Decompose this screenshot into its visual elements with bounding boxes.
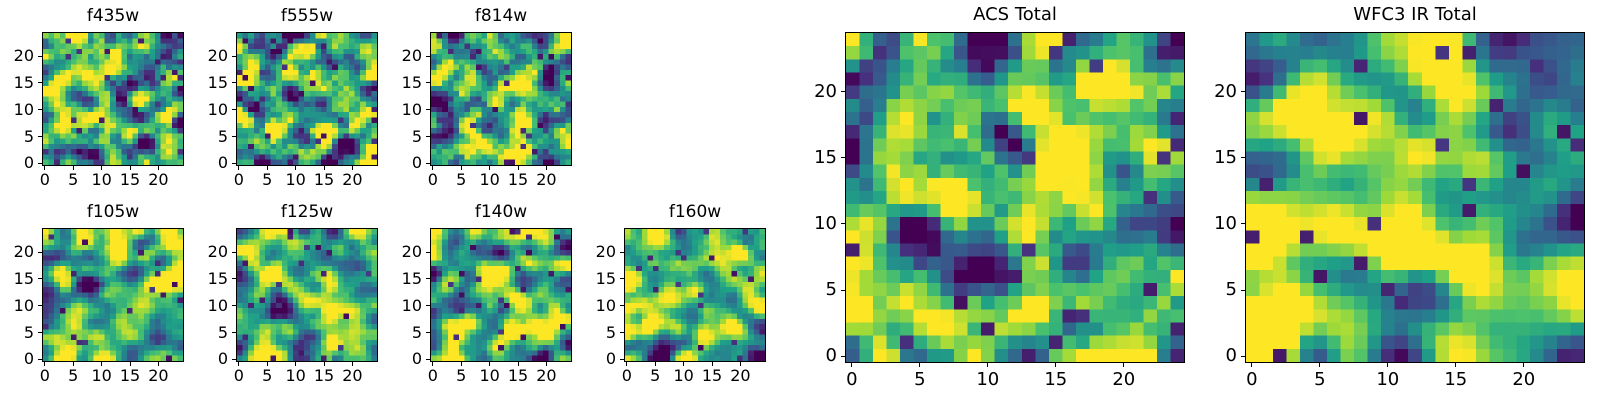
ytick-label: 20	[785, 83, 837, 101]
xtick-mark	[740, 362, 741, 366]
panel-title-f125w: f125w	[236, 204, 378, 221]
ytick-label: 15	[370, 75, 422, 91]
ytick-label: 10	[370, 102, 422, 118]
xtick-label: 10	[1363, 371, 1413, 389]
heatmap-image-f555w	[237, 33, 377, 165]
xtick-mark	[489, 362, 490, 366]
ytick-label: 15	[176, 271, 228, 287]
ytick-label: 20	[176, 244, 228, 260]
ytick-mark	[426, 56, 430, 57]
heatmap-axes-f814w	[430, 32, 572, 166]
xtick-mark	[324, 166, 325, 170]
xtick-mark	[987, 363, 988, 367]
xtick-label: 15	[1431, 371, 1481, 389]
xtick-mark	[655, 362, 656, 366]
xtick-mark	[683, 362, 684, 366]
xtick-mark	[44, 362, 45, 366]
ytick-label: 10	[370, 298, 422, 314]
ytick-mark	[232, 278, 236, 279]
panel-title-f140w: f140w	[430, 204, 572, 221]
ytick-label: 5	[785, 281, 837, 299]
xtick-mark	[1055, 363, 1056, 367]
ytick-label: 15	[785, 149, 837, 167]
xtick-mark	[324, 362, 325, 366]
ytick-mark	[620, 252, 624, 253]
xtick-mark	[1123, 363, 1124, 367]
panel-wfc3-total: WFC3 IR Total0510152005101520	[1185, 4, 1600, 395]
xtick-mark	[546, 362, 547, 366]
ytick-mark	[232, 109, 236, 110]
heatmap-image-f125w	[237, 229, 377, 361]
ytick-mark	[841, 356, 845, 357]
ytick-label: 0	[564, 351, 616, 367]
xtick-mark	[295, 166, 296, 170]
ytick-mark	[841, 223, 845, 224]
panel-title-acs-total: ACS Total	[845, 6, 1185, 24]
ytick-label: 10	[0, 102, 34, 118]
ytick-mark	[1241, 290, 1245, 291]
ytick-mark	[38, 136, 42, 137]
ytick-label: 20	[0, 244, 34, 260]
ytick-mark	[232, 332, 236, 333]
xtick-mark	[489, 166, 490, 170]
xtick-label: 20	[1499, 371, 1549, 389]
ytick-label: 0	[176, 351, 228, 367]
xtick-label: 0	[1227, 371, 1277, 389]
xtick-mark	[352, 362, 353, 366]
ytick-mark	[232, 136, 236, 137]
panel-title-f555w: f555w	[236, 8, 378, 25]
ytick-label: 15	[176, 75, 228, 91]
xtick-mark	[518, 166, 519, 170]
ytick-mark	[426, 278, 430, 279]
ytick-mark	[426, 109, 430, 110]
xtick-mark	[432, 166, 433, 170]
xtick-label: 0	[827, 371, 877, 389]
xtick-mark	[130, 362, 131, 366]
ytick-label: 15	[564, 271, 616, 287]
ytick-mark	[38, 332, 42, 333]
panel-title-f435w: f435w	[42, 8, 184, 25]
heatmap-image-f160w	[625, 229, 765, 361]
xtick-mark	[546, 166, 547, 170]
xtick-mark	[461, 166, 462, 170]
heatmap-axes-f555w	[236, 32, 378, 166]
ytick-mark	[38, 163, 42, 164]
ytick-mark	[841, 91, 845, 92]
ytick-mark	[620, 305, 624, 306]
ytick-mark	[38, 56, 42, 57]
panel-f814w: f814w0510152005101520	[370, 4, 592, 198]
ytick-mark	[1241, 91, 1245, 92]
ytick-mark	[232, 82, 236, 83]
ytick-label: 10	[1185, 215, 1237, 233]
xtick-label: 10	[963, 371, 1013, 389]
heatmap-image-f140w	[431, 229, 571, 361]
ytick-label: 20	[176, 48, 228, 64]
panel-f435w: f435w0510152005101520	[0, 4, 204, 198]
xtick-mark	[1455, 363, 1456, 367]
ytick-mark	[426, 252, 430, 253]
panel-title-f160w: f160w	[624, 204, 766, 221]
heatmap-axes-f160w	[624, 228, 766, 362]
ytick-mark	[841, 290, 845, 291]
xtick-mark	[73, 362, 74, 366]
ytick-label: 20	[370, 244, 422, 260]
xtick-mark	[1251, 363, 1252, 367]
ytick-mark	[232, 305, 236, 306]
panel-title-f814w: f814w	[430, 8, 572, 25]
ytick-mark	[1241, 356, 1245, 357]
figure-canvas: f435w0510152005101520f555w05101520051015…	[0, 0, 1600, 400]
heatmap-axes-f125w	[236, 228, 378, 362]
xtick-mark	[851, 363, 852, 367]
xtick-mark	[1387, 363, 1388, 367]
xtick-mark	[267, 166, 268, 170]
ytick-label: 15	[370, 271, 422, 287]
ytick-mark	[1241, 223, 1245, 224]
panel-acs-total: ACS Total0510152005101520	[785, 4, 1205, 395]
heatmap-image-acs-total	[846, 33, 1184, 362]
ytick-label: 5	[176, 325, 228, 341]
ytick-label: 0	[370, 351, 422, 367]
ytick-label: 0	[0, 351, 34, 367]
heatmap-axes-acs-total	[845, 32, 1185, 363]
ytick-label: 5	[370, 129, 422, 145]
ytick-label: 5	[0, 129, 34, 145]
xtick-mark	[130, 166, 131, 170]
xtick-label: 5	[895, 371, 945, 389]
ytick-label: 5	[370, 325, 422, 341]
ytick-mark	[38, 305, 42, 306]
ytick-label: 5	[0, 325, 34, 341]
xtick-mark	[1319, 363, 1320, 367]
panel-title-wfc3-total: WFC3 IR Total	[1245, 6, 1585, 24]
xtick-mark	[44, 166, 45, 170]
xtick-label: 20	[715, 368, 765, 384]
ytick-mark	[38, 109, 42, 110]
ytick-mark	[426, 332, 430, 333]
xtick-mark	[432, 362, 433, 366]
xtick-label: 5	[1295, 371, 1345, 389]
ytick-mark	[232, 56, 236, 57]
heatmap-axes-f140w	[430, 228, 572, 362]
xtick-mark	[919, 363, 920, 367]
ytick-mark	[426, 136, 430, 137]
xtick-mark	[101, 166, 102, 170]
xtick-mark	[1523, 363, 1524, 367]
ytick-mark	[426, 359, 430, 360]
ytick-label: 5	[1185, 281, 1237, 299]
ytick-label: 10	[176, 298, 228, 314]
xtick-label: 15	[1031, 371, 1081, 389]
panel-f555w: f555w0510152005101520	[176, 4, 398, 198]
xtick-mark	[295, 362, 296, 366]
ytick-mark	[232, 359, 236, 360]
ytick-label: 5	[564, 325, 616, 341]
ytick-mark	[38, 278, 42, 279]
heatmap-axes-f435w	[42, 32, 184, 166]
xtick-mark	[73, 166, 74, 170]
xtick-mark	[518, 362, 519, 366]
heatmap-axes-wfc3-total	[1245, 32, 1585, 363]
panel-f125w: f125w0510152005101520	[176, 200, 398, 394]
ytick-mark	[1241, 157, 1245, 158]
heatmap-axes-f105w	[42, 228, 184, 362]
panel-f105w: f105w0510152005101520	[0, 200, 204, 394]
panel-title-f105w: f105w	[42, 204, 184, 221]
heatmap-image-wfc3-total	[1246, 33, 1584, 362]
ytick-mark	[38, 252, 42, 253]
ytick-label: 20	[0, 48, 34, 64]
xtick-mark	[461, 362, 462, 366]
ytick-label: 10	[785, 215, 837, 233]
xtick-mark	[238, 166, 239, 170]
xtick-mark	[101, 362, 102, 366]
xtick-mark	[267, 362, 268, 366]
ytick-mark	[426, 163, 430, 164]
ytick-label: 20	[1185, 83, 1237, 101]
ytick-mark	[426, 82, 430, 83]
xtick-mark	[158, 362, 159, 366]
ytick-label: 15	[1185, 149, 1237, 167]
ytick-label: 15	[0, 75, 34, 91]
ytick-mark	[620, 359, 624, 360]
heatmap-image-f814w	[431, 33, 571, 165]
ytick-mark	[232, 163, 236, 164]
ytick-mark	[620, 332, 624, 333]
ytick-mark	[38, 359, 42, 360]
heatmap-image-f435w	[43, 33, 183, 165]
ytick-label: 0	[0, 155, 34, 171]
ytick-label: 10	[0, 298, 34, 314]
ytick-label: 0	[176, 155, 228, 171]
ytick-label: 10	[176, 102, 228, 118]
ytick-label: 20	[564, 244, 616, 260]
ytick-label: 5	[176, 129, 228, 145]
ytick-mark	[841, 157, 845, 158]
ytick-label: 20	[370, 48, 422, 64]
ytick-mark	[426, 305, 430, 306]
heatmap-image-f105w	[43, 229, 183, 361]
ytick-mark	[620, 278, 624, 279]
ytick-label: 15	[0, 271, 34, 287]
xtick-mark	[158, 166, 159, 170]
ytick-label: 0	[370, 155, 422, 171]
ytick-label: 0	[1185, 347, 1237, 365]
panel-f160w: f160w0510152005101520	[564, 200, 786, 394]
xtick-label: 20	[521, 172, 571, 188]
ytick-mark	[38, 82, 42, 83]
ytick-label: 10	[564, 298, 616, 314]
xtick-mark	[352, 166, 353, 170]
xtick-mark	[238, 362, 239, 366]
xtick-mark	[712, 362, 713, 366]
panel-f140w: f140w0510152005101520	[370, 200, 592, 394]
xtick-mark	[626, 362, 627, 366]
ytick-mark	[232, 252, 236, 253]
xtick-label: 20	[1099, 371, 1149, 389]
ytick-label: 0	[785, 347, 837, 365]
